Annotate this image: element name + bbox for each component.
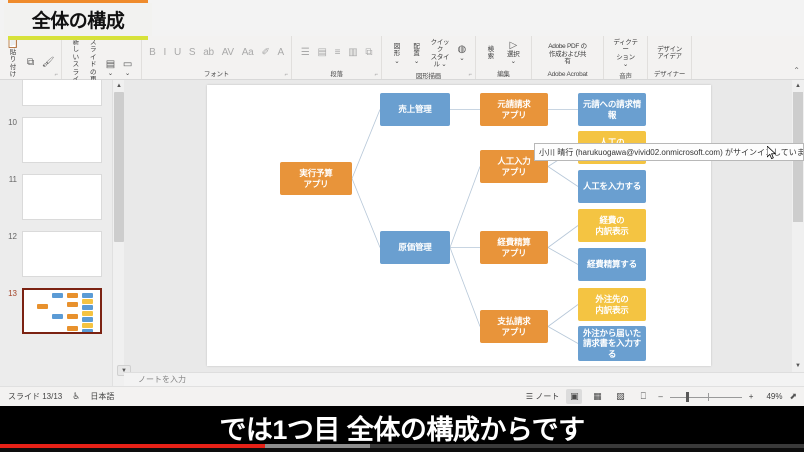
thumbnail-node <box>82 305 92 310</box>
bullets-icon: ☰ <box>301 48 310 58</box>
normal-view-button[interactable]: ▣ <box>566 389 582 404</box>
italic-button[interactable]: I <box>161 47 167 59</box>
thumbnail-panel-scrollbar[interactable]: ▲ <box>112 80 124 386</box>
diagram-node-n3[interactable]: 原価管理 <box>380 231 450 264</box>
ribbon-group-items: BIUSabAVAa✐A <box>146 38 287 68</box>
slide-area-scrollbar[interactable]: ▲ ▼ <box>792 80 804 372</box>
connector-n3-n13 <box>450 248 480 327</box>
strikethrough-button[interactable]: ab <box>201 47 216 59</box>
line-spacing-button[interactable]: ≡ <box>333 47 343 59</box>
text-highlight-button[interactable]: ✐ <box>259 47 271 59</box>
ribbon-group-label-paragraph: 段落 <box>296 68 377 79</box>
ribbon-group-items: ディクテー ション ⌄ <box>608 38 643 70</box>
diagram-node-label: 実行予算 アプリ <box>299 168 332 188</box>
diagram-node-label: 原価管理 <box>398 242 431 252</box>
section-button[interactable]: ▭⌄ <box>121 59 134 78</box>
diagram-node-n9[interactable]: 経費の 内訳表示 <box>578 209 646 242</box>
fit-slide-to-window-icon[interactable]: ⬈ <box>789 391 797 402</box>
thumbnail-slide-10[interactable]: 10 <box>0 117 112 163</box>
select-button-label: 選択 ⌄ <box>504 51 522 66</box>
thumbnail-number: 13 <box>0 288 22 298</box>
connector-n10-n9 <box>548 226 578 248</box>
dictate-button-label: ディクテー ション ⌄ <box>613 39 638 69</box>
bold-button[interactable]: B <box>147 47 157 59</box>
ribbon-group-items: Adobe PDF の 作成および共有 <box>536 38 599 71</box>
align-text-button[interactable]: ▥ <box>346 47 359 59</box>
accessibility-icon[interactable]: ♿ <box>72 391 80 402</box>
video-caption-text: では1つ目 全体の構成からです <box>0 407 804 447</box>
section-button-caret-icon[interactable]: ⌄ <box>125 70 130 77</box>
diagram-node-n5[interactable]: 元請への請求情報 <box>578 93 646 126</box>
thumbnail-slide-13[interactable]: 13 <box>0 288 112 334</box>
connector-n13-n12 <box>548 305 578 327</box>
diagram-node-label: 外注先の 内訳表示 <box>595 294 628 314</box>
ribbon-group-slides: 新しい スライド ⌄スライドの 再利用▤⌄▭⌄スライド <box>62 36 142 79</box>
shapes-button-label: 図形 ⌄ <box>391 43 403 65</box>
diagram-node-n1[interactable]: 実行予算 アプリ <box>280 162 352 195</box>
thumbnail-preview[interactable] <box>22 80 102 106</box>
section-icon: ▭ <box>123 60 132 70</box>
zoom-slider-track <box>670 397 742 398</box>
thumbnail-node <box>82 323 92 328</box>
character-spacing-icon: AV <box>222 48 234 58</box>
format-painter-button[interactable]: 🖌 <box>40 57 56 69</box>
font-color-icon: A <box>278 48 284 58</box>
mouse-cursor-icon <box>767 146 777 160</box>
create-share-pdf-button[interactable]: Adobe PDF の 作成および共有 <box>545 42 591 66</box>
connector-n1-n2 <box>352 110 380 179</box>
shape-fill-button[interactable]: ◍⌄ <box>456 44 468 63</box>
format-painter-icon: 🖌 <box>42 58 54 68</box>
video-title-overlay: 全体の構成 <box>4 3 152 36</box>
thumbnail-node <box>82 317 92 322</box>
thumbnail-number: 12 <box>0 231 22 241</box>
video-player-frame: 📋貼り付け ⌄⧉🖌クリップボード⌐新しい スライド ⌄スライドの 再利用▤⌄▭⌄… <box>0 0 804 452</box>
bold-icon: B <box>149 48 155 58</box>
layout-button-caret-icon[interactable]: ⌄ <box>108 70 113 77</box>
slide-sorter-view-button[interactable]: ▦ <box>589 389 605 404</box>
diagram-node-n8[interactable]: 人工を入力する <box>578 170 646 203</box>
thumbnail-node <box>82 299 92 304</box>
dialog-launcher-icon[interactable]: ⌐ <box>284 72 288 78</box>
ribbon-group-clipboard: 📋貼り付け ⌄⧉🖌クリップボード⌐ <box>0 36 62 79</box>
diagram-node-label: 経費精算する <box>587 259 637 269</box>
thumbnail-node <box>67 302 77 307</box>
thumbnail-node <box>82 329 92 334</box>
thumbnail-preview[interactable] <box>22 174 102 220</box>
ribbon-group-items: ☰▤≡▥⧉ <box>296 38 377 68</box>
diagram-node-n13[interactable]: 支払請求 アプリ <box>480 310 548 343</box>
numbering-icon: ▤ <box>317 48 326 58</box>
copy-icon: ⧉ <box>27 58 34 68</box>
notes-placeholder-text: ノートを入力 <box>138 374 186 385</box>
zoom-in-button[interactable]: + <box>749 392 754 401</box>
find-button-label: 検索 <box>485 46 496 61</box>
connector-n10-n11 <box>548 248 578 265</box>
notes-pane[interactable]: ノートを入力 <box>124 372 804 386</box>
thumbnail-slide-9[interactable]: 9 <box>0 80 112 106</box>
title-overlay-top-accent <box>8 0 148 3</box>
slide-thumbnail-panel[interactable]: 910111213 <box>0 80 124 386</box>
paste-icon: 📋 <box>7 39 19 49</box>
diagram-node-label: 元請請求 アプリ <box>497 99 530 119</box>
align-text-icon: ▥ <box>348 48 357 58</box>
slide-canvas[interactable]: 実行予算 アプリ売上管理原価管理元請請求 アプリ元請への請求情報人工の 内訳表示… <box>207 85 711 366</box>
diagram-node-n10[interactable]: 経費精算 アプリ <box>480 231 548 264</box>
thumbnail-number: 11 <box>0 174 22 184</box>
underline-icon: U <box>174 48 181 58</box>
zoom-level-label[interactable]: 49% <box>760 392 782 401</box>
ribbon-group-drawing: 図形 ⌄配置 ⌄クイック スタイル ⌄◍⌄図形描画⌐ <box>382 36 476 79</box>
design-ideas-button-label: デザイン アイデア <box>657 46 682 61</box>
zoom-slider-midpoint <box>708 393 709 401</box>
shadow-button[interactable]: S <box>187 47 197 59</box>
arrange-button[interactable]: 配置 ⌄ <box>409 42 425 66</box>
thumbnail-scroll-thumb[interactable] <box>114 92 124 242</box>
thumbnail-preview[interactable] <box>22 288 102 334</box>
strikethrough-icon: ab <box>203 48 214 58</box>
ribbon-group-label-editing: 編集 <box>480 68 527 79</box>
numbering-button[interactable]: ▤ <box>315 47 328 59</box>
select-button[interactable]: ▷選択 ⌄ <box>502 40 524 67</box>
status-bar: スライド 13/13 ♿ 日本語 ☰ ノート ▣ ▦ ▨ ⎕ – + 49% ⬈ <box>0 386 804 406</box>
zoom-slider-handle[interactable] <box>686 392 689 402</box>
title-overlay-bottom-accent <box>8 36 148 40</box>
diagram-node-n12[interactable]: 外注先の 内訳表示 <box>578 288 646 321</box>
ribbon-group-items: デザイン アイデア <box>652 38 687 68</box>
quick-styles-button[interactable]: クイック スタイル ⌄ <box>428 38 451 70</box>
design-ideas-button[interactable]: デザイン アイデア <box>655 45 684 62</box>
thumbnail-node <box>52 293 63 298</box>
convert-smartart-icon: ⧉ <box>365 48 372 58</box>
layout-icon: ▤ <box>106 60 115 70</box>
slide-editing-area[interactable]: 実行予算 アプリ売上管理原価管理元請請求 アプリ元請への請求情報人工の 内訳表示… <box>124 80 804 372</box>
thumbnail-node <box>67 314 77 319</box>
character-spacing-button[interactable]: AV <box>220 47 236 59</box>
diagram-node-label: 支払請求 アプリ <box>497 316 530 336</box>
select-icon: ▷ <box>510 41 517 51</box>
create-share-pdf-button-label: Adobe PDF の 作成および共有 <box>547 43 589 65</box>
language-indicator[interactable]: 日本語 <box>90 391 114 402</box>
line-spacing-icon: ≡ <box>335 48 341 58</box>
dialog-launcher-icon[interactable]: ⌐ <box>374 72 378 78</box>
thumbnail-node <box>82 311 92 316</box>
thumbnail-preview[interactable] <box>22 231 102 277</box>
ribbon-group-paragraph: ☰▤≡▥⧉段落⌐ <box>292 36 382 79</box>
zoom-slider[interactable] <box>670 392 742 402</box>
connector-n1-n3 <box>352 179 380 248</box>
reading-view-button[interactable]: ▨ <box>612 389 628 404</box>
diagram-node-n14[interactable]: 外注から届いた 請求書を入力する <box>578 326 646 361</box>
diagram-node-label: 元請への請求情報 <box>580 99 644 119</box>
diagram-node-label: 人工を入力する <box>583 181 641 191</box>
shape-fill-button-caret-icon[interactable]: ⌄ <box>459 55 464 62</box>
connector-n7-n8 <box>548 167 578 187</box>
ribbon-group-font: BIUSabAVAa✐Aフォント⌐ <box>142 36 292 79</box>
shape-fill-icon: ◍ <box>458 45 466 55</box>
text-highlight-icon: ✐ <box>261 48 269 58</box>
diagram-node-label: 外注から届いた 請求書を入力する <box>580 328 644 359</box>
diagram-node-label: 経費の 内訳表示 <box>595 215 628 235</box>
shadow-icon: S <box>189 48 195 58</box>
layout-button[interactable]: ▤⌄ <box>104 59 117 78</box>
dialog-launcher-icon[interactable]: ⌐ <box>468 72 472 78</box>
zoom-out-button[interactable]: – <box>658 392 662 401</box>
ribbon-group-adobe-acrobat: Adobe PDF の 作成および共有Adobe Acrobat <box>532 36 604 79</box>
ribbon-group-editing: 検索▷選択 ⌄編集 <box>476 36 532 79</box>
bullets-button[interactable]: ☰ <box>299 47 312 59</box>
ribbon-group-items: 図形 ⌄配置 ⌄クイック スタイル ⌄◍⌄ <box>386 38 471 70</box>
diagram-node-n11[interactable]: 経費精算する <box>578 248 646 281</box>
thumbnail-preview[interactable] <box>22 117 102 163</box>
ribbon-group-label-adobe-acrobat: Adobe Acrobat <box>536 71 599 79</box>
diagram-node-n4[interactable]: 元請請求 アプリ <box>480 93 548 126</box>
font-color-button[interactable]: A <box>276 47 286 59</box>
ribbon-toolbar[interactable]: 📋貼り付け ⌄⧉🖌クリップボード⌐新しい スライド ⌄スライドの 再利用▤⌄▭⌄… <box>0 36 804 80</box>
ribbon-group-label-designer: デザイナー <box>652 68 687 79</box>
change-case-button[interactable]: Aa <box>240 47 256 59</box>
italic-icon: I <box>163 48 165 58</box>
dialog-launcher-icon[interactable]: ⌐ <box>54 72 58 78</box>
thumbnail-node <box>67 326 77 331</box>
arrange-button-label: 配置 ⌄ <box>411 43 423 65</box>
slide-indicator: スライド 13/13 <box>8 391 62 402</box>
thumbnail-node <box>52 314 63 319</box>
ribbon-group-designer: デザイン アイデアデザイナー <box>648 36 692 79</box>
ribbon-group-label-font: フォント <box>146 68 287 79</box>
scroll-down-arrow-icon[interactable]: ▼ <box>792 360 804 372</box>
video-title-text: 全体の構成 <box>32 6 125 33</box>
thumbnail-slide-11[interactable]: 11 <box>0 174 112 220</box>
find-button[interactable]: 検索 <box>483 45 498 62</box>
scroll-up-arrow-icon[interactable]: ▲ <box>792 80 804 92</box>
thumbnail-node <box>67 293 77 298</box>
connector-n3-n7 <box>450 167 480 248</box>
ribbon-group-items: 検索▷選択 ⌄ <box>480 38 527 68</box>
thumbnail-number: 10 <box>0 117 22 127</box>
diagram-node-label: 経費精算 アプリ <box>497 237 530 257</box>
copy-button[interactable]: ⧉ <box>25 57 36 69</box>
signin-tooltip: 小川 晴行 (harukuogawa@vivid02.onmicrosoft.c… <box>534 143 804 161</box>
thumbnail-node <box>82 293 92 298</box>
ribbon-group-voice: ディクテー ション ⌄音声 <box>604 36 648 79</box>
shapes-button[interactable]: 図形 ⌄ <box>389 42 405 66</box>
notes-toggle-button[interactable]: ☰ ノート <box>526 391 559 402</box>
diagram-node-label: 人工入力 アプリ <box>497 156 530 176</box>
connector-n13-n14 <box>548 327 578 344</box>
video-controls-strip[interactable] <box>0 448 804 452</box>
powerpoint-window: 📋貼り付け ⌄⧉🖌クリップボード⌐新しい スライド ⌄スライドの 再利用▤⌄▭⌄… <box>0 0 804 406</box>
convert-smartart-button[interactable]: ⧉ <box>363 47 374 59</box>
slideshow-view-button[interactable]: ⎕ <box>635 389 651 404</box>
change-case-icon: Aa <box>242 48 254 58</box>
underline-button[interactable]: U <box>172 47 183 59</box>
quick-styles-button-label: クイック スタイル ⌄ <box>430 39 449 69</box>
thumbnail-slide-12[interactable]: 12 <box>0 231 112 277</box>
thumbnail-node <box>37 304 48 309</box>
dictate-button[interactable]: ディクテー ション ⌄ <box>611 38 640 70</box>
diagram-node-label: 売上管理 <box>398 104 431 114</box>
diagram-node-n2[interactable]: 売上管理 <box>380 93 450 126</box>
